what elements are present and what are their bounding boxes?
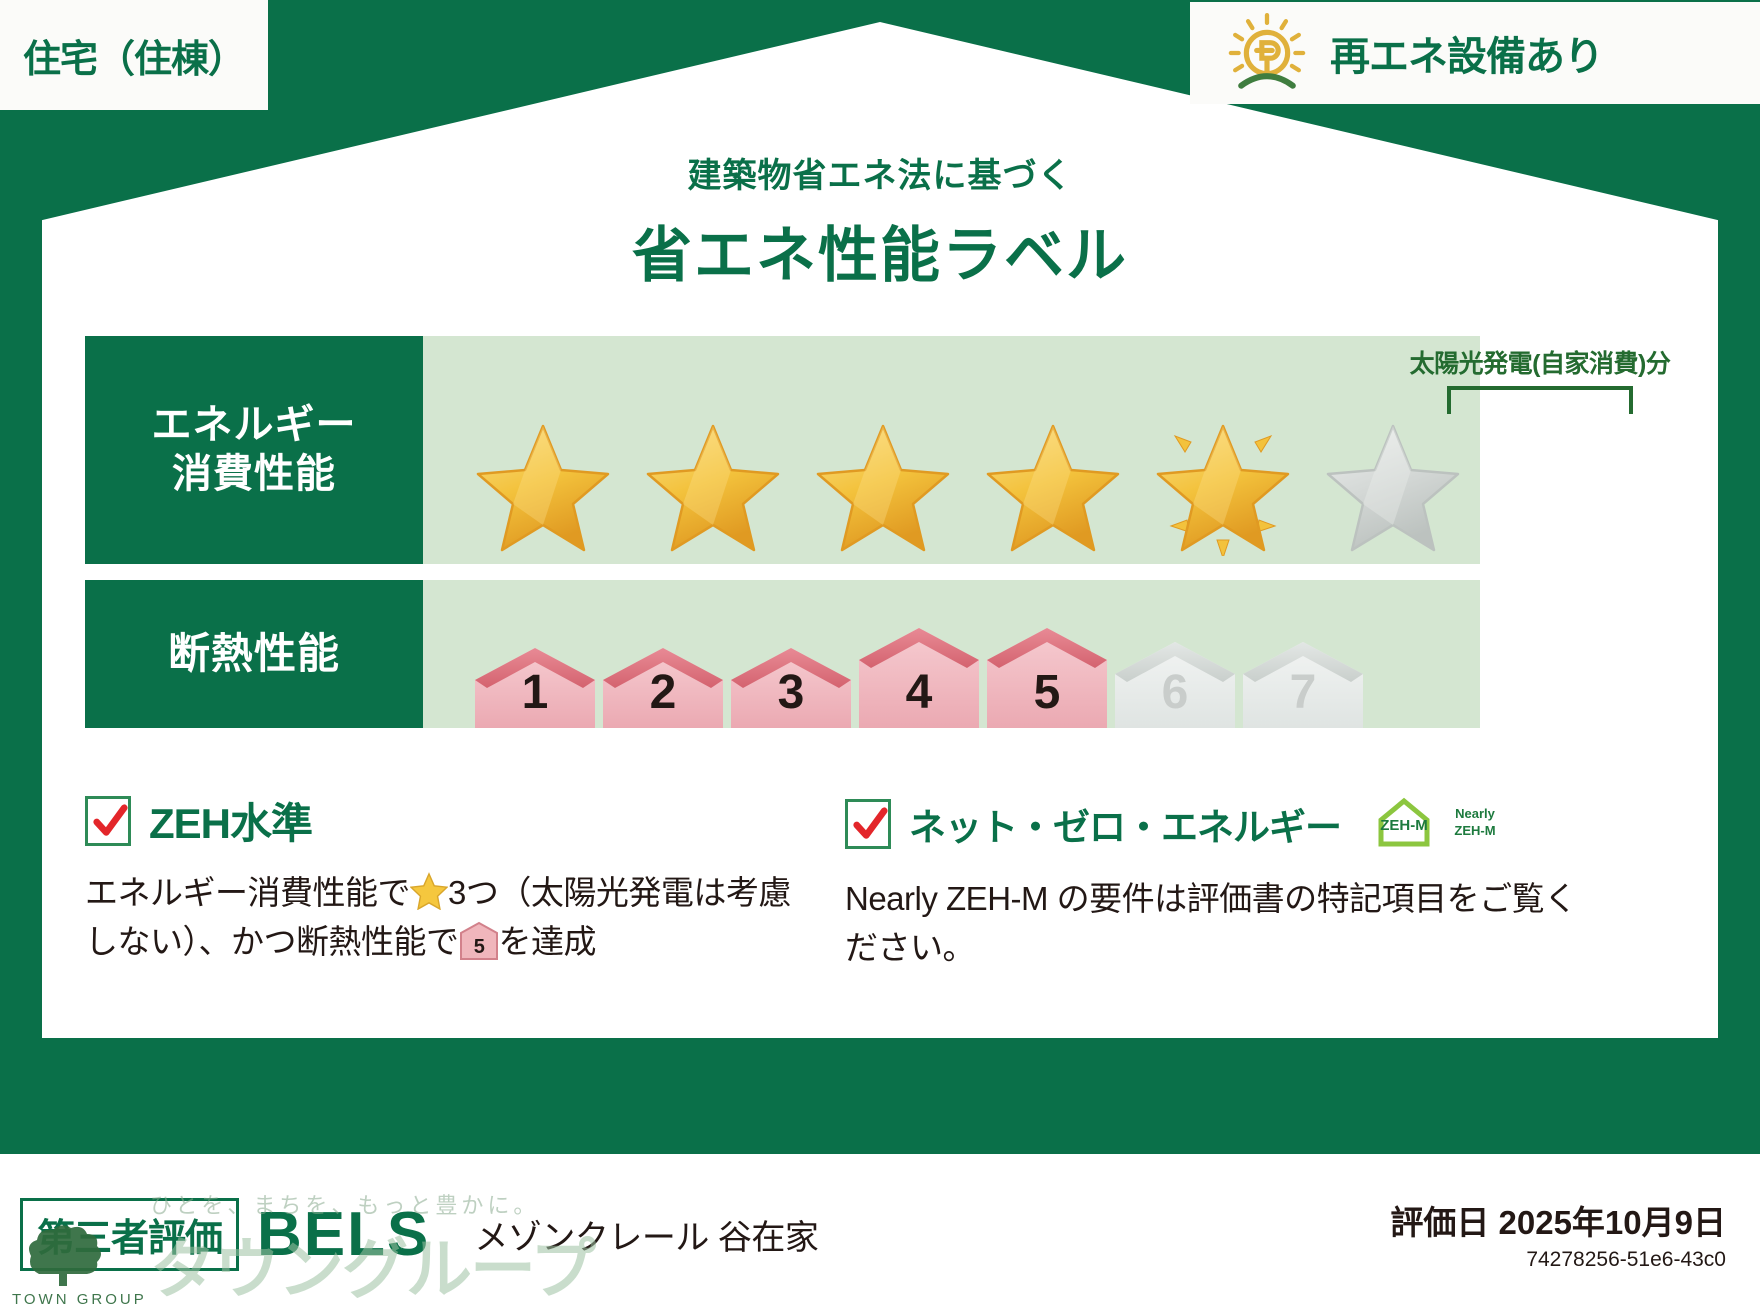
tree-icon xyxy=(19,1222,139,1288)
claim-zeh-description: エネルギー消費性能で3つ（太陽光発電は考慮しない）、かつ断熱性能で5を達成 xyxy=(85,869,805,967)
town-group-wordmark: TOWN GROUP xyxy=(12,1291,147,1308)
claim-nze-title: ネット・ゼロ・エネルギー xyxy=(909,797,1341,851)
claim-zeh-title: ZEH水準 xyxy=(149,790,312,851)
renewable-equipment-label: 再エネ設備あり xyxy=(1330,24,1603,82)
energy-header-line-1: エネルギー xyxy=(152,401,357,450)
energy-star-1 xyxy=(469,408,617,556)
evaluation-id: 74278256-51e6-43c0 xyxy=(1390,1248,1726,1272)
insulation-level-2: 2 xyxy=(601,646,725,728)
insulation-level-4: 4 xyxy=(857,626,981,728)
claim-zeh-standard: ZEH水準 エネルギー消費性能で3つ（太陽光発電は考慮しない）、かつ断熱性能で5… xyxy=(85,790,805,973)
claim-zeh-header: ZEH水準 xyxy=(85,790,805,851)
energy-consumption-row: エネルギー 消費性能 太陽光発電(自家消費)分 xyxy=(85,336,1480,564)
footer-right-group: 評価日 2025年10月9日 74278256-51e6-43c0 xyxy=(1390,1196,1760,1272)
energy-star-6 xyxy=(1319,408,1467,556)
insulation-level-scale: 1 2 xyxy=(473,626,1365,728)
town-group-mark xyxy=(19,1222,139,1288)
insulation-performance-row: 断熱性能 1 xyxy=(85,580,1480,728)
insulation-level-number: 7 xyxy=(1241,665,1365,720)
insulation-header-label: 断熱性能 xyxy=(168,628,340,679)
energy-performance-label: 住宅（住棟） xyxy=(0,0,1760,1314)
energy-star-3 xyxy=(809,408,957,556)
insulation-level-1: 1 xyxy=(473,646,597,728)
solar-annotation: 太陽光発電(自家消費)分 xyxy=(1375,344,1705,414)
insulation-level-number: 5 xyxy=(985,665,1109,720)
insulation-level-7: 7 xyxy=(1241,640,1365,728)
category-chip: 住宅（住棟） xyxy=(0,0,268,110)
energy-consumption-header: エネルギー 消費性能 xyxy=(85,336,423,564)
page-title: 省エネ性能ラベル xyxy=(0,207,1760,294)
insulation-level-5: 5 xyxy=(985,626,1109,728)
claim-zeh-text-part3: を達成 xyxy=(499,923,597,960)
svg-text:ZEH-M: ZEH-M xyxy=(1380,817,1428,834)
insulation-level-number: 3 xyxy=(729,665,853,720)
svg-text:Nearly: Nearly xyxy=(1455,806,1496,821)
solar-annotation-label: 太陽光発電(自家消費)分 xyxy=(1375,344,1705,380)
solar-annotation-bracket xyxy=(1447,386,1633,414)
zeh-m-logo: ZEH-M Nearly ZEH-M xyxy=(1371,790,1523,857)
renewable-equipment-badge: 再エネ設備あり xyxy=(1190,2,1760,104)
svg-text:ZEH-M: ZEH-M xyxy=(1454,823,1495,838)
bels-logo: BELS xyxy=(257,1199,430,1270)
insulation-level-number: 2 xyxy=(601,665,725,720)
insulation-header: 断熱性能 xyxy=(85,580,423,728)
energy-star-rating xyxy=(469,408,1467,556)
insulation-level-inline-icon: 5 xyxy=(459,921,499,961)
insulation-level-number: 6 xyxy=(1113,665,1237,720)
footer-bar: 第三者評価 BELS メゾンクレール 谷在家 評価日 2025年10月9日 74… xyxy=(0,1154,1760,1314)
checkbox-zeh-standard[interactable] xyxy=(85,796,131,846)
town-group-watermark: TOWN GROUP xyxy=(12,1222,147,1308)
energy-star-4 xyxy=(979,408,1127,556)
title-subtitle: 建築物省エネ法に基づく xyxy=(0,148,1760,197)
star-icon xyxy=(410,872,448,910)
insulation-level-number: 4 xyxy=(857,665,981,720)
title-block: 建築物省エネ法に基づく 省エネ性能ラベル xyxy=(0,148,1760,294)
insulation-level-3: 3 xyxy=(729,646,853,728)
evaluation-date-value: 2025年10月9日 xyxy=(1499,1204,1726,1241)
property-name: メゾンクレール 谷在家 xyxy=(474,1210,818,1259)
claims-section: ZEH水準 エネルギー消費性能で3つ（太陽光発電は考慮しない）、かつ断熱性能で5… xyxy=(85,790,1665,973)
checkbox-net-zero-energy[interactable] xyxy=(845,799,891,849)
evaluation-date-label: 評価日 xyxy=(1390,1204,1489,1241)
insulation-level-6: 6 xyxy=(1113,640,1237,728)
insulation-body: 1 2 xyxy=(423,580,1480,728)
insulation-level-number: 1 xyxy=(473,665,597,720)
energy-consumption-body: 太陽光発電(自家消費)分 xyxy=(423,336,1480,564)
energy-star-5 xyxy=(1149,408,1297,556)
evaluation-date: 評価日 2025年10月9日 xyxy=(1390,1196,1726,1244)
energy-header-line-2: 消費性能 xyxy=(172,450,336,499)
energy-star-2 xyxy=(639,408,787,556)
category-chip-label: 住宅（住棟） xyxy=(23,28,245,83)
claim-nze-description: Nearly ZEH-M の要件は評価書の特記項目をご覧ください。 xyxy=(845,875,1605,973)
solar-sun-icon xyxy=(1224,10,1310,96)
claim-zeh-text-part1: エネルギー消費性能で xyxy=(85,874,410,911)
claim-nze-header: ネット・ゼロ・エネルギー ZEH-M Nearly ZEH-M xyxy=(845,790,1605,857)
svg-text:5: 5 xyxy=(473,936,484,958)
claim-net-zero-energy: ネット・ゼロ・エネルギー ZEH-M Nearly ZEH-M Nearly Z… xyxy=(845,790,1605,973)
